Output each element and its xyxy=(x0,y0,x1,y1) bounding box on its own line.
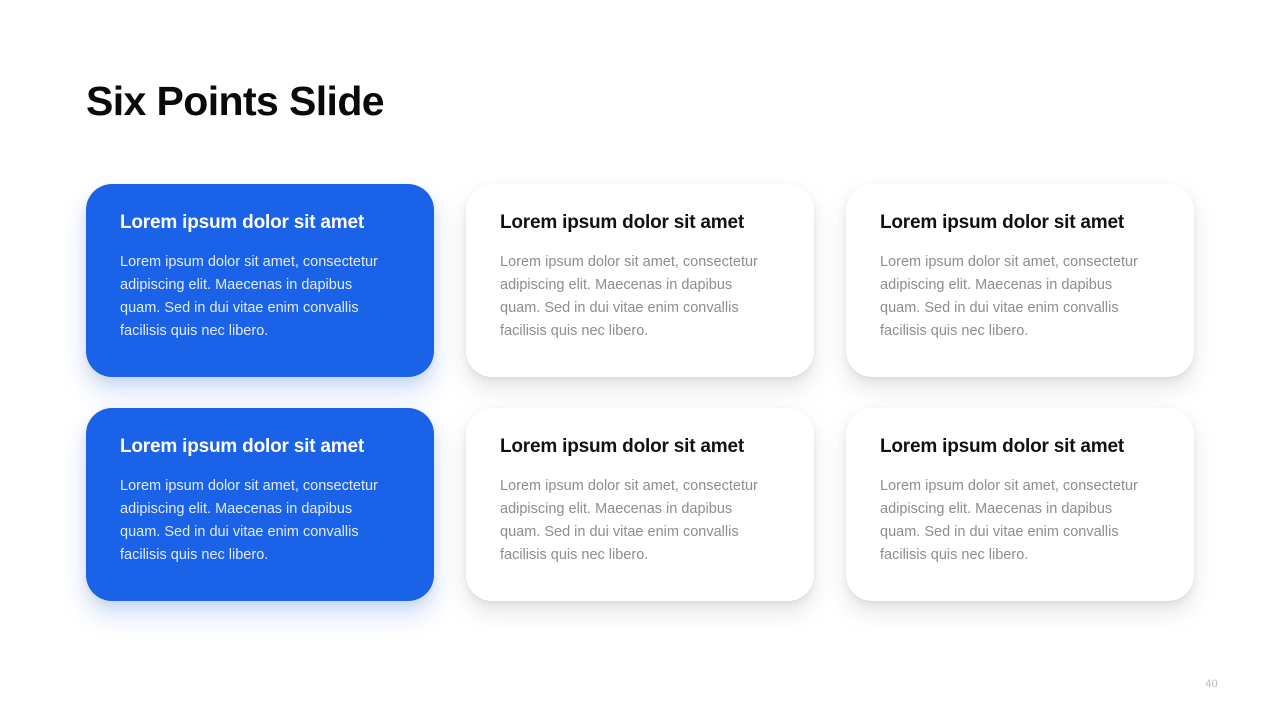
slide-canvas: Six Points Slide Lorem ipsum dolor sit a… xyxy=(0,0,1280,720)
point-card-title: Lorem ipsum dolor sit amet xyxy=(120,436,400,459)
point-card-body: Lorem ipsum dolor sit amet, consectetur … xyxy=(120,251,392,343)
point-card-5[interactable]: Lorem ipsum dolor sit amet Lorem ipsum d… xyxy=(466,408,814,601)
point-card-title: Lorem ipsum dolor sit amet xyxy=(880,212,1160,235)
point-card-1[interactable]: Lorem ipsum dolor sit amet Lorem ipsum d… xyxy=(86,184,434,377)
page-number: 40 xyxy=(1205,678,1218,690)
point-card-body: Lorem ipsum dolor sit amet, consectetur … xyxy=(500,475,772,567)
point-card-body: Lorem ipsum dolor sit amet, consectetur … xyxy=(880,251,1152,343)
point-card-body: Lorem ipsum dolor sit amet, consectetur … xyxy=(880,475,1152,567)
page-title: Six Points Slide xyxy=(86,79,384,124)
point-card-2[interactable]: Lorem ipsum dolor sit amet Lorem ipsum d… xyxy=(466,184,814,377)
point-card-title: Lorem ipsum dolor sit amet xyxy=(500,212,780,235)
point-card-6[interactable]: Lorem ipsum dolor sit amet Lorem ipsum d… xyxy=(846,408,1194,601)
point-card-3[interactable]: Lorem ipsum dolor sit amet Lorem ipsum d… xyxy=(846,184,1194,377)
point-card-title: Lorem ipsum dolor sit amet xyxy=(880,436,1160,459)
point-card-body: Lorem ipsum dolor sit amet, consectetur … xyxy=(120,475,392,567)
point-card-title: Lorem ipsum dolor sit amet xyxy=(500,436,780,459)
point-card-body: Lorem ipsum dolor sit amet, consectetur … xyxy=(500,251,772,343)
point-card-4[interactable]: Lorem ipsum dolor sit amet Lorem ipsum d… xyxy=(86,408,434,601)
points-grid: Lorem ipsum dolor sit amet Lorem ipsum d… xyxy=(86,184,1194,601)
point-card-title: Lorem ipsum dolor sit amet xyxy=(120,212,400,235)
